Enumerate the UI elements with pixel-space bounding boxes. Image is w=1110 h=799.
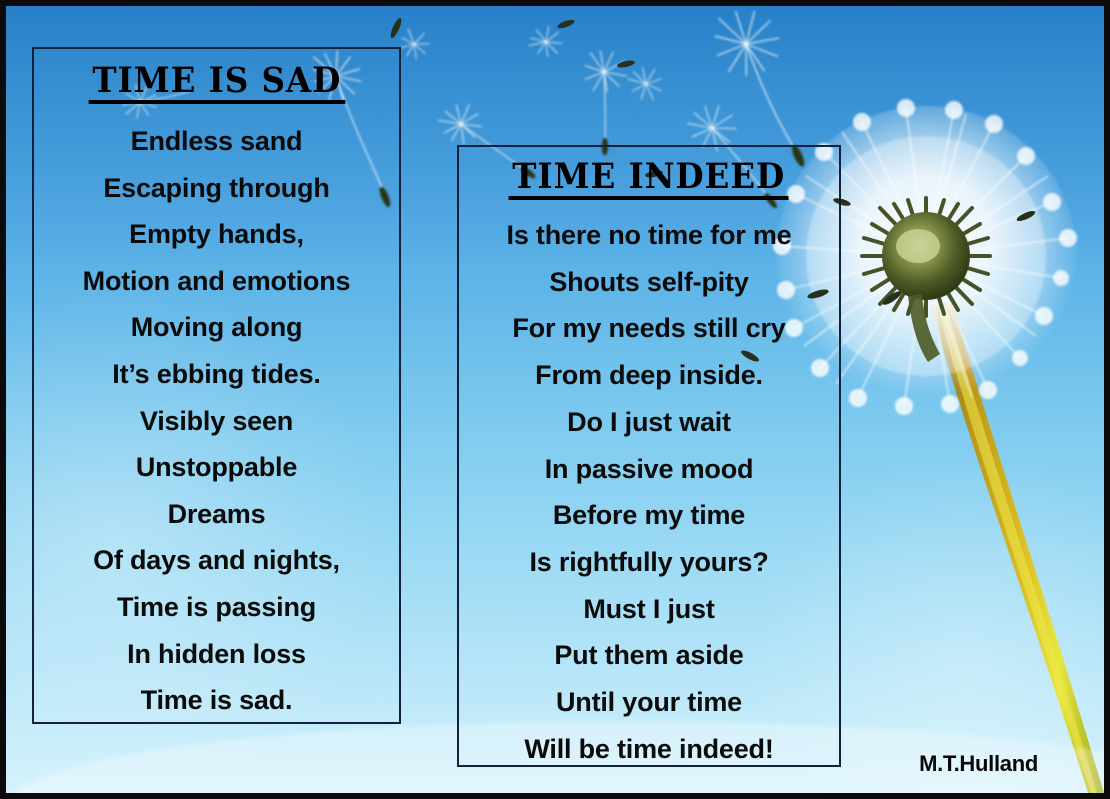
poem-lines: Endless sand Escaping through Empty hand…	[34, 118, 399, 724]
poem-line: Time is passing	[34, 584, 399, 631]
poem-line: Motion and emotions	[34, 258, 399, 305]
poem-box-time-is-sad: TIME IS SAD Endless sand Escaping throug…	[32, 47, 401, 724]
poem-line: In hidden loss	[34, 631, 399, 678]
poem-line: Empty hands,	[34, 211, 399, 258]
poem-line: Is rightfully yours?	[459, 539, 839, 586]
poem-line: Of days and nights,	[34, 537, 399, 584]
poem-title-wrap: TIME IS SAD	[34, 63, 399, 104]
poem-title-wrap: TIME INDEED	[459, 159, 839, 200]
poem-line: Moving along	[34, 304, 399, 351]
poem-line: Put them aside	[459, 632, 839, 679]
poem-line: From deep inside.	[459, 352, 839, 399]
poem-line: Is there no time for me	[459, 212, 839, 259]
poem-line: Escaping through	[34, 165, 399, 212]
poem-title: TIME INDEED	[509, 159, 789, 200]
poem-line: It’s ebbing tides.	[34, 351, 399, 398]
poem-line: Endless sand	[34, 118, 399, 165]
poem-line: Do I just wait	[459, 399, 839, 446]
author-signature: M.T.Hulland	[919, 751, 1038, 777]
poster: TIME IS SAD Endless sand Escaping throug…	[0, 0, 1110, 799]
poem-line: Until your time	[459, 679, 839, 726]
poem-line: In passive mood	[459, 446, 839, 493]
poem-line: Before my time	[459, 492, 839, 539]
poem-lines: Is there no time for me Shouts self-pity…	[459, 212, 839, 772]
poem-line: Must I just	[459, 586, 839, 633]
poem-line: Unstoppable	[34, 444, 399, 491]
poem-title: TIME IS SAD	[88, 63, 344, 104]
poem-line: Will be time indeed!	[459, 726, 839, 773]
poem-line: Time is sad.	[34, 677, 399, 724]
poem-box-time-indeed: TIME INDEED Is there no time for me Shou…	[457, 145, 841, 767]
poem-line: For my needs still cry	[459, 305, 839, 352]
poem-line: Visibly seen	[34, 398, 399, 445]
poem-line: Dreams	[34, 491, 399, 538]
poem-line: Shouts self-pity	[459, 259, 839, 306]
